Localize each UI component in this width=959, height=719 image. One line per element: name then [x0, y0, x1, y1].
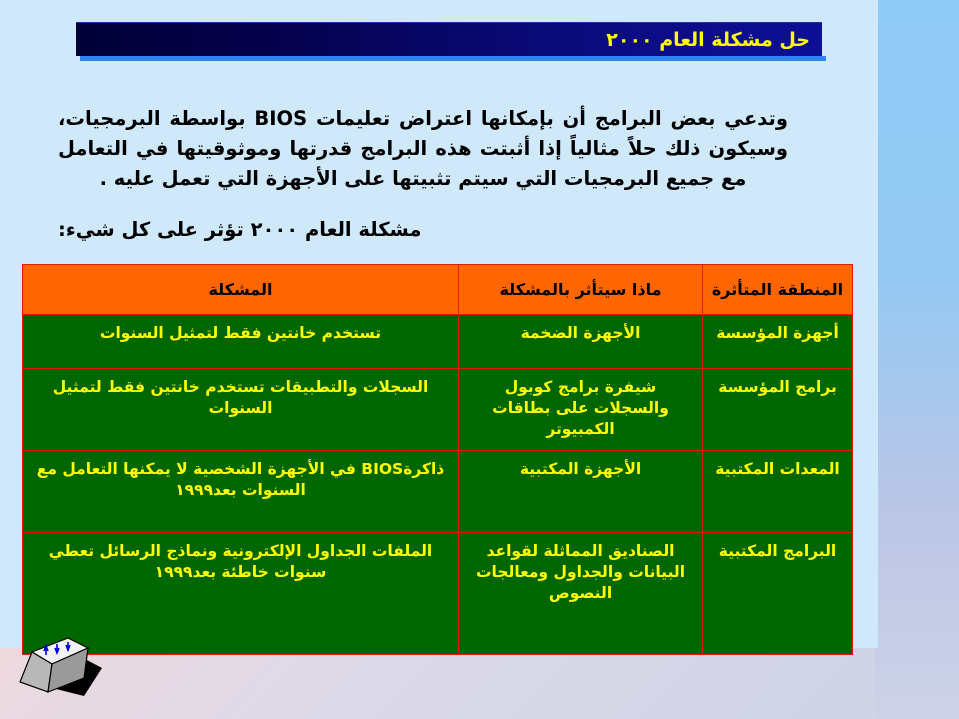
table-header-row: المنطقة المتأثرة ماذا سيتأثر بالمشكلة ال…	[23, 265, 853, 315]
cell-problem: ذاكرةBIOS في الأجهزة الشخصية لا يمكنها ا…	[23, 451, 459, 533]
table-header-area: المنطقة المتأثرة	[703, 265, 853, 315]
cell-what: شيفرة برامج كوبول والسجلات على بطاقات ال…	[459, 369, 703, 451]
content-panel: حل مشكلة العام ٢٠٠٠ وتدعي بعض البرامج أن…	[0, 0, 878, 648]
title-bar-container: حل مشكلة العام ٢٠٠٠	[76, 22, 826, 62]
table-header-problem: المشكلة	[23, 265, 459, 315]
cell-what: الأجهزة المكتبية	[459, 451, 703, 533]
cell-area: البرامج المكتبية	[703, 533, 853, 655]
cell-problem: السجلات والتطبيقات تستخدم خانتين فقط لتم…	[23, 369, 459, 451]
keycap-illustration	[12, 626, 132, 706]
title-bar: حل مشكلة العام ٢٠٠٠	[76, 22, 822, 56]
cell-area: برامج المؤسسة	[703, 369, 853, 451]
table-row: أجهزة المؤسسة الأجهزة الضخمة تستخدم خانت…	[23, 315, 853, 369]
impact-table: المنطقة المتأثرة ماذا سيتأثر بالمشكلة ال…	[22, 264, 853, 655]
cell-problem: تستخدم خانتين فقط لتمثيل السنوات	[23, 315, 459, 369]
slide-canvas: تطور ، تقنية ، مستقبل الحاسب الآلي حل مش…	[0, 0, 959, 719]
body-paragraph: وتدعي بعض البرامج أن بإمكانها اعتراض تعل…	[58, 104, 788, 194]
table-row: برامج المؤسسة شيفرة برامج كوبول والسجلات…	[23, 369, 853, 451]
table-header-what: ماذا سيتأثر بالمشكلة	[459, 265, 703, 315]
table-row: البرامج المكتبية الصناديق المماثلة لقواع…	[23, 533, 853, 655]
sub-heading: مشكلة العام ٢٠٠٠ تؤثر على كل شيء:	[58, 218, 788, 241]
page-title: حل مشكلة العام ٢٠٠٠	[76, 29, 810, 51]
cell-what: الأجهزة الضخمة	[459, 315, 703, 369]
table-row: المعدات المكتبية الأجهزة المكتبية ذاكرةB…	[23, 451, 853, 533]
cell-area: أجهزة المؤسسة	[703, 315, 853, 369]
title-bar-underline	[80, 56, 826, 61]
side-decoration-band: تطور ، تقنية ، مستقبل الحاسب الآلي	[875, 0, 959, 719]
cell-area: المعدات المكتبية	[703, 451, 853, 533]
cell-what: الصناديق المماثلة لقواعد البيانات والجدا…	[459, 533, 703, 655]
